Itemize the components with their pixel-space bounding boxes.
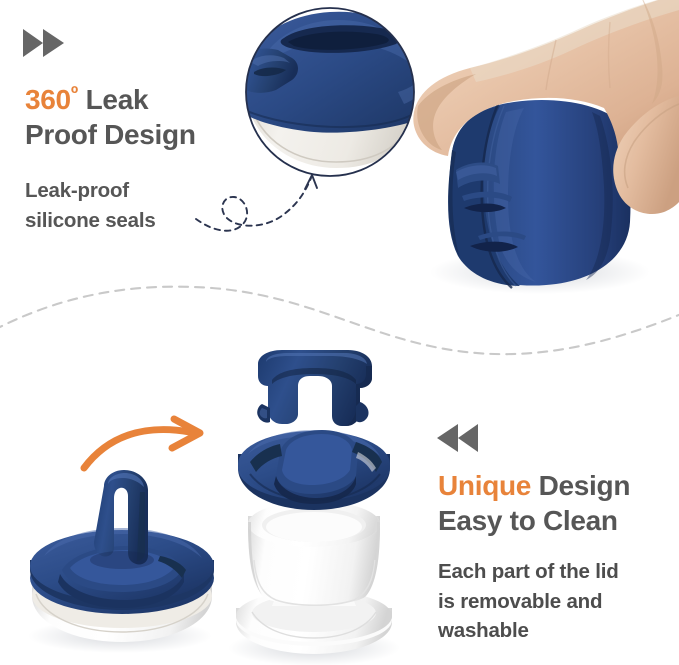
bottom-right-bodytext: Each part of the lid is removable and wa… bbox=[438, 557, 619, 646]
navy-lid-disc bbox=[238, 430, 390, 510]
chevron-double-right-icon bbox=[23, 29, 64, 57]
top-left-headline: 360º Leak Proof Design bbox=[25, 82, 196, 153]
dashed-curl-arrow-icon bbox=[196, 175, 317, 231]
headline-line2-br: Easy to Clean bbox=[438, 503, 630, 538]
dashed-wave-divider bbox=[0, 287, 679, 355]
lid-closeup-circle-inset bbox=[236, 8, 428, 176]
subtext-line2: silicone seals bbox=[25, 206, 156, 236]
chevron-double-left-icon bbox=[437, 424, 478, 452]
white-silicone-ring bbox=[248, 501, 380, 605]
assembled-lid-photo bbox=[28, 470, 214, 653]
navy-flip-handle bbox=[257, 350, 372, 426]
hand-holding-tumbler-photo bbox=[413, 0, 679, 294]
headline-line2: Proof Design bbox=[25, 117, 196, 152]
body-line1: Each part of the lid bbox=[438, 557, 619, 587]
headline-accent-360: 360 bbox=[25, 84, 71, 115]
headline-rest-line1: Leak bbox=[78, 84, 148, 115]
bottom-right-headline: Unique Design Easy to Clean bbox=[438, 468, 630, 539]
headline-accent-unique: Unique bbox=[438, 470, 531, 501]
exploded-lid-parts-photo bbox=[228, 350, 400, 665]
body-line3: washable bbox=[438, 616, 619, 646]
infographic-canvas: 360º Leak Proof Design Leak-proof silico… bbox=[0, 0, 679, 665]
headline-rest-line1-br: Design bbox=[531, 470, 630, 501]
body-line2: is removable and bbox=[438, 587, 619, 617]
orange-curved-arrow-right-icon bbox=[84, 419, 200, 468]
top-left-subtext: Leak-proof silicone seals bbox=[25, 176, 156, 235]
subtext-line1: Leak-proof bbox=[25, 176, 156, 206]
